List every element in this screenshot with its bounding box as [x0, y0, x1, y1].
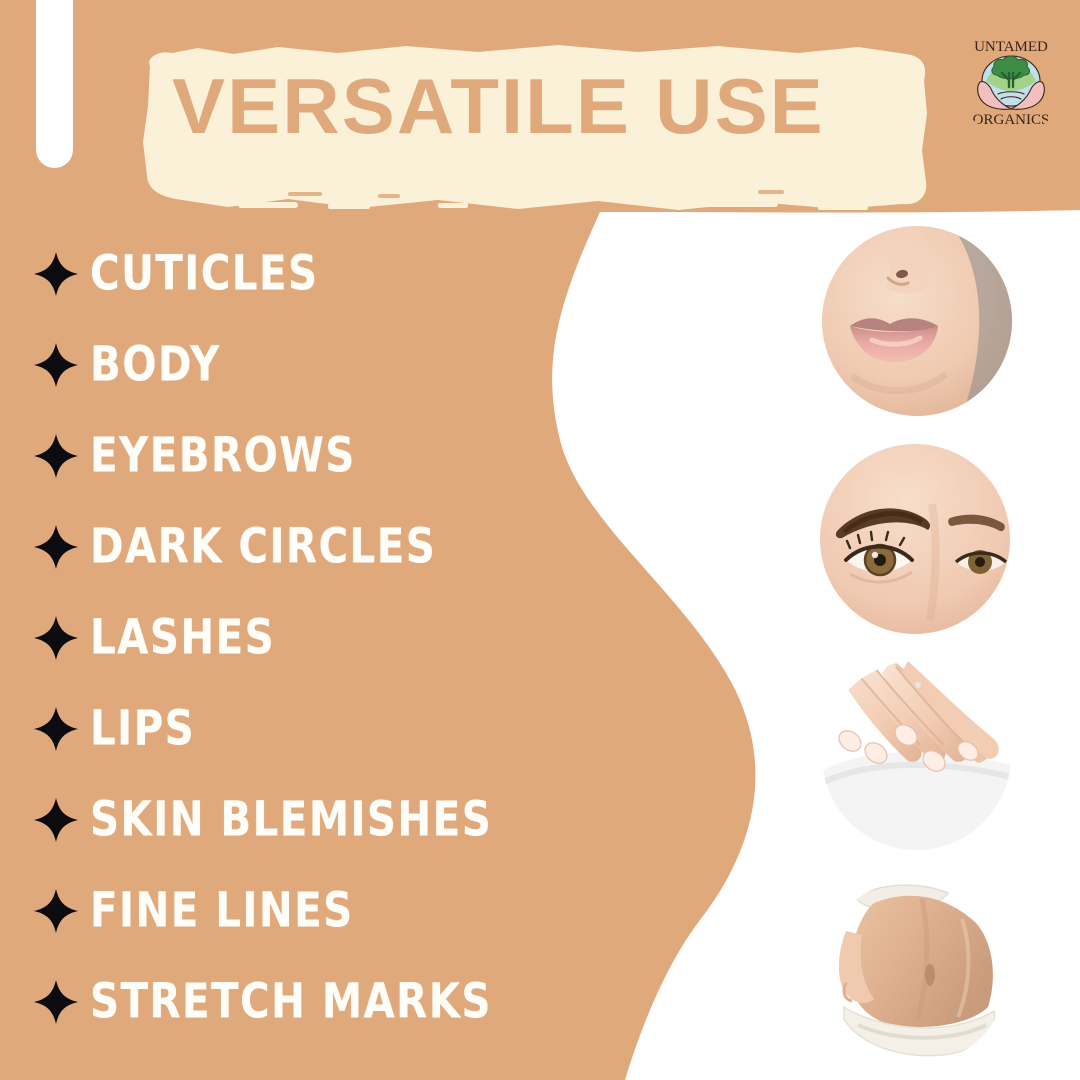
four-point-star-icon — [30, 339, 82, 391]
list-item: CUTICLES — [0, 228, 620, 319]
four-point-star-icon — [30, 248, 82, 300]
list-item: LIPS — [0, 683, 620, 774]
left-accent-bar — [36, 0, 73, 168]
brand-logo: UNTAMED ORGANICS — [956, 25, 1066, 135]
photo-lips — [822, 226, 1012, 416]
list-item-label: CUTICLES — [90, 249, 319, 298]
photo-eyebrow — [820, 444, 1010, 634]
four-point-star-icon — [30, 885, 82, 937]
list-item-label: LIPS — [90, 704, 195, 753]
four-point-star-icon — [30, 976, 82, 1028]
list-item: LASHES — [0, 592, 620, 683]
list-item-label: BODY — [90, 340, 221, 389]
list-item: FINE LINES — [0, 865, 620, 956]
list-item-label: LASHES — [90, 613, 275, 662]
list-item-label: EYEBROWS — [90, 431, 356, 480]
page-title: VERSATILE USE — [172, 66, 906, 146]
four-point-star-icon — [30, 521, 82, 573]
list-item: BODY — [0, 319, 620, 410]
photo-hands — [822, 661, 1011, 850]
logo-top-text: UNTAMED — [974, 39, 1048, 55]
four-point-star-icon — [30, 612, 82, 664]
four-point-star-icon — [30, 794, 82, 846]
four-point-star-icon — [30, 430, 82, 482]
list-item: DARK CIRCLES — [0, 501, 620, 592]
list-item: EYEBROWS — [0, 410, 620, 501]
list-item: STRETCH MARKS — [0, 956, 620, 1047]
feature-list: CUTICLES BODY EYEBROWS DARK CIRCLES LASH… — [0, 228, 620, 1047]
list-item-label: DARK CIRCLES — [90, 522, 436, 571]
photo-stomach — [822, 879, 1008, 1065]
list-item: SKIN BLEMISHES — [0, 774, 620, 865]
poster-canvas: VERSATILE USE UNTAMED ORGANICS — [0, 0, 1080, 1080]
list-item-label: FINE LINES — [90, 886, 354, 935]
logo-bottom-text: ORGANICS — [973, 112, 1050, 128]
list-item-label: STRETCH MARKS — [90, 977, 492, 1026]
list-item-label: SKIN BLEMISHES — [90, 795, 492, 844]
four-point-star-icon — [30, 703, 82, 755]
